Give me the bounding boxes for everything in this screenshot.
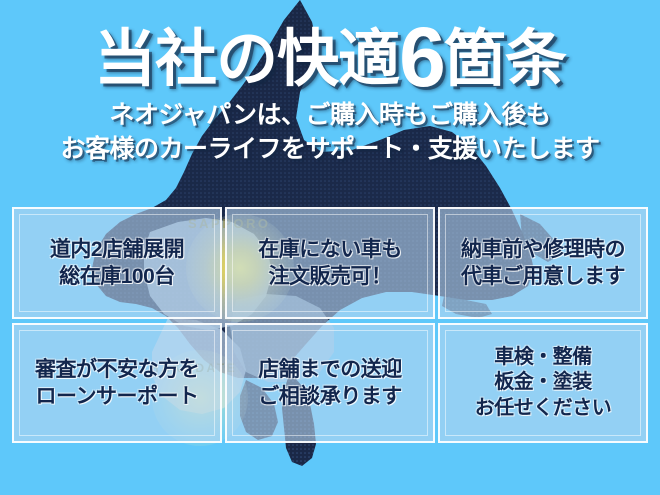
headline-block: 当社の快適6箇条 ネオジャパンは、ご購入時もご購入後も お客様のカーライフをサポ…: [0, 0, 660, 166]
promo-banner: SAPPORO HAKODATE 当社の快適6箇条 ネオジャパンは、ご購入時もご…: [0, 0, 660, 495]
feature-text-pickup-service: 店舗までの送迎 ご相談承ります: [258, 356, 402, 411]
feature-box-special-order: 在庫にない車も 注文販売可！: [225, 207, 435, 319]
subtitle-line-1: ネオジャパンは、ご購入時もご購入後も: [0, 99, 660, 133]
feature-box-pickup-service: 店舗までの送迎 ご相談承ります: [225, 323, 435, 443]
feature-text-loan-support: 審査が不安な方を ローンサーポート: [35, 356, 199, 411]
feature-text-loaner-car: 納車前や修理時の 代車ご用意します: [461, 236, 625, 291]
feature-text-store-count: 道内2店舗展開 総在庫100台: [50, 236, 184, 291]
feature-box-loan-support: 審査が不安な方を ローンサーポート: [12, 323, 222, 443]
title-number-six: 6: [399, 10, 444, 104]
feature-text-inspection-bodywork: 車検・整備 板金・塗装 お任せください: [475, 345, 612, 422]
feature-box-inspection-bodywork: 車検・整備 板金・塗装 お任せください: [438, 323, 648, 443]
feature-box-loaner-car: 納車前や修理時の 代車ご用意します: [438, 207, 648, 319]
subtitle-line-2: お客様のカーライフをサポート・支援いたします: [0, 133, 660, 167]
title-suffix: 箇条: [444, 25, 566, 94]
feature-grid: 道内2店舗展開 総在庫100台 在庫にない車も 注文販売可！ 納車前や修理時の …: [12, 207, 648, 443]
feature-box-store-count: 道内2店舗展開 総在庫100台: [12, 207, 222, 319]
subtitle: ネオジャパンは、ご購入時もご購入後も お客様のカーライフをサポート・支援いたしま…: [0, 91, 660, 166]
feature-text-special-order: 在庫にない車も 注文販売可！: [258, 236, 402, 291]
title-prefix: 当社の快適: [94, 25, 399, 94]
page-title: 当社の快適6箇条: [0, 0, 660, 91]
